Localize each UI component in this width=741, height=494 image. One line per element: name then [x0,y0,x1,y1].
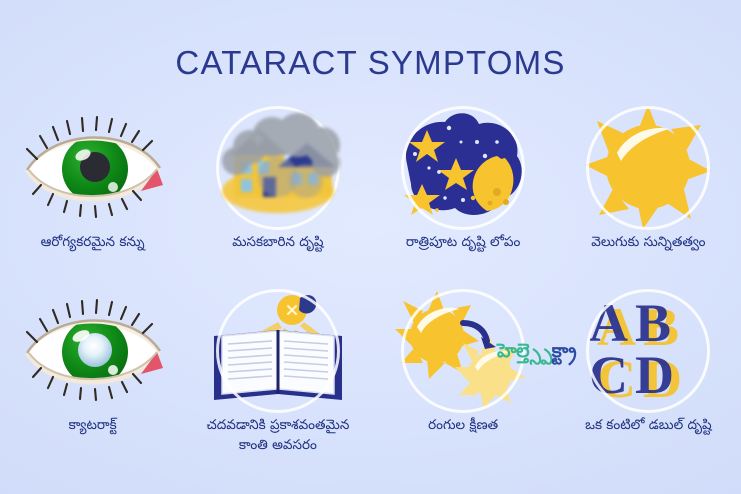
symptom-card-night-vision-loss: రాత్రిపూట దృష్టి లోపం [371,105,556,290]
halo-ring [586,106,710,230]
cataract-eye-icon [17,298,169,404]
symptom-label: క్యాటరాక్ట్ [13,416,173,436]
symptom-label-line1: చదవడానికి ప్రకాశవంతమైన [206,417,349,433]
halo-ring [216,289,340,413]
healthy-eye-art [18,105,168,231]
symptom-card-cataract-eye: క్యాటరాక్ట్ [0,290,185,475]
blurry-vision-art [203,105,353,231]
healthy-eye-icon [17,115,169,221]
light-sensitivity-art [573,105,723,231]
halo-ring [586,289,710,413]
page-title: CATARACT SYMPTOMS [0,44,741,82]
foggy-house-icon [208,111,348,225]
symptom-label: మసకబారిన దృష్టి [198,233,358,253]
cataract-symptoms-poster: CATARACT SYMPTOMS [0,0,741,494]
watermark-part1: హెల్త్ [497,340,552,362]
cataract-eye-art [18,290,168,412]
watermark-part2: స్పెక్ట్రా [552,340,576,362]
symptom-card-double-vision: A B C D A B C D ఒక కంటిలో డబుల్ దృష్టి [556,290,741,475]
double-vision-art: A B C D A B C D [573,290,723,412]
symptom-label: ఆరోగ్యకరమైన కన్ను [13,233,173,253]
symptom-card-healthy-eye: ఆరోగ్యకరమైన కన్ను [0,105,185,290]
symptom-label: చదవడానికి ప్రకాశవంతమైన కాంతి అవసరం [198,416,358,455]
symptom-card-need-bright-light: చదవడానికి ప్రకాశవంతమైన కాంతి అవసరం [185,290,370,475]
watermark: హెల్త్స్పెక్ట్రా [497,340,576,367]
symptom-label-line2: కాంతి అవసరం [239,437,317,453]
symptom-card-color-fading: రంగుల క్షీణత [371,290,556,475]
halo-ring [401,106,525,230]
symptom-label: రాత్రిపూట దృష్టి లోపం [383,233,543,253]
symptoms-grid: ఆరోగ్యకరమైన కన్ను [0,105,741,475]
symptom-label: రంగుల క్షీణత [383,416,543,436]
reading-light-art [203,290,353,412]
symptom-card-light-sensitivity: వెలుగుకు సున్నితత్వం [556,105,741,290]
symptom-label: వెలుగుకు సున్నితత్వం [568,233,728,253]
symptom-label: ఒక కంటిలో డబుల్ దృష్టి [568,416,728,436]
symptom-card-blurry-vision: మసకబారిన దృష్టి [185,105,370,290]
night-vision-art [388,105,538,231]
